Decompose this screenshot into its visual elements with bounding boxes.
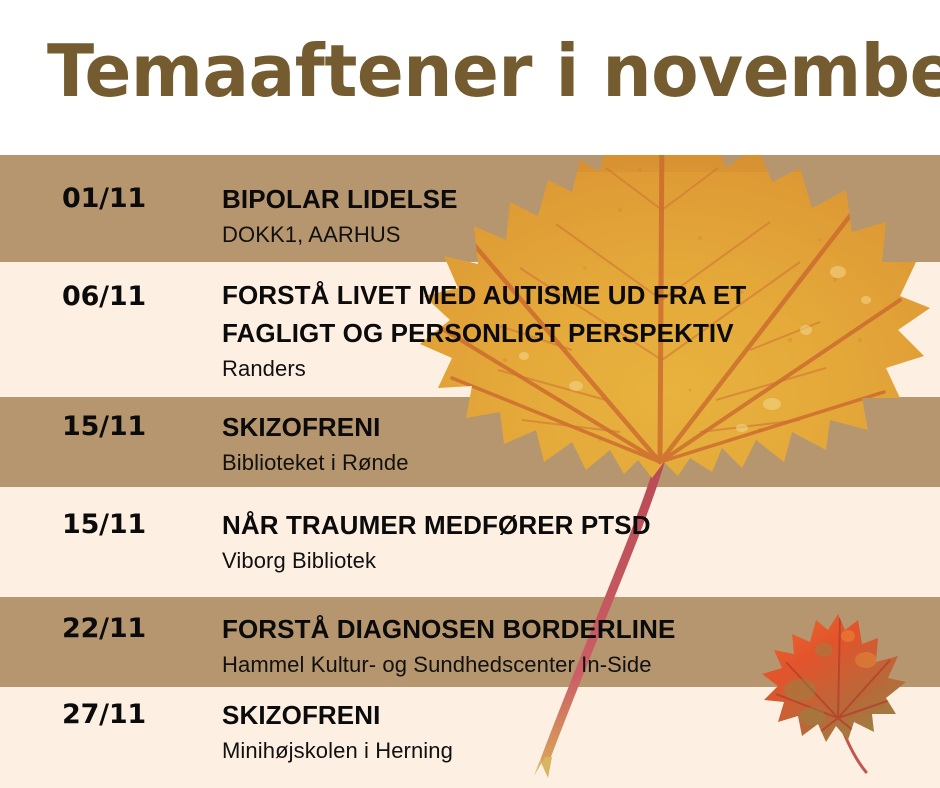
- event-date: 15/11: [62, 509, 146, 540]
- event-date: 01/11: [62, 183, 146, 214]
- event-title: FORSTÅ LIVET MED AUTISME UD FRA ET FAGLI…: [222, 276, 932, 352]
- event-title: FORSTÅ DIAGNOSEN BORDERLINE: [222, 610, 932, 648]
- event-venue: Viborg Bibliotek: [222, 546, 932, 576]
- event-venue: DOKK1, AARHUS: [222, 220, 932, 250]
- event-venue: Biblioteket i Rønde: [222, 448, 932, 478]
- event-date: 06/11: [62, 281, 146, 312]
- event-title: SKIZOFRENI: [222, 408, 932, 446]
- event-venue: Minihøjskolen i Herning: [222, 736, 932, 766]
- event-body: FORSTÅ DIAGNOSEN BORDERLINEHammel Kultur…: [222, 610, 932, 680]
- event-date: 22/11: [62, 613, 146, 644]
- poster-canvas: Temaaftener i november 01/11BIPOLAR LIDE…: [0, 0, 940, 788]
- page-title: Temaaftener i november: [47, 26, 940, 116]
- event-title: SKIZOFRENI: [222, 696, 932, 734]
- event-body: BIPOLAR LIDELSEDOKK1, AARHUS: [222, 180, 932, 250]
- event-body: FORSTÅ LIVET MED AUTISME UD FRA ET FAGLI…: [222, 276, 932, 384]
- event-title: NÅR TRAUMER MEDFØRER PTSD: [222, 506, 932, 544]
- event-venue: Randers: [222, 354, 932, 384]
- event-body: NÅR TRAUMER MEDFØRER PTSDViborg Bibliote…: [222, 506, 932, 576]
- event-body: SKIZOFRENIMinihøjskolen i Herning: [222, 696, 932, 766]
- event-venue: Hammel Kultur- og Sundhedscenter In-Side: [222, 650, 932, 680]
- event-body: SKIZOFRENIBiblioteket i Rønde: [222, 408, 932, 478]
- event-date: 27/11: [62, 699, 146, 730]
- event-date: 15/11: [62, 411, 146, 442]
- event-title: BIPOLAR LIDELSE: [222, 180, 932, 218]
- poster-header: Temaaftener i november: [0, 0, 940, 155]
